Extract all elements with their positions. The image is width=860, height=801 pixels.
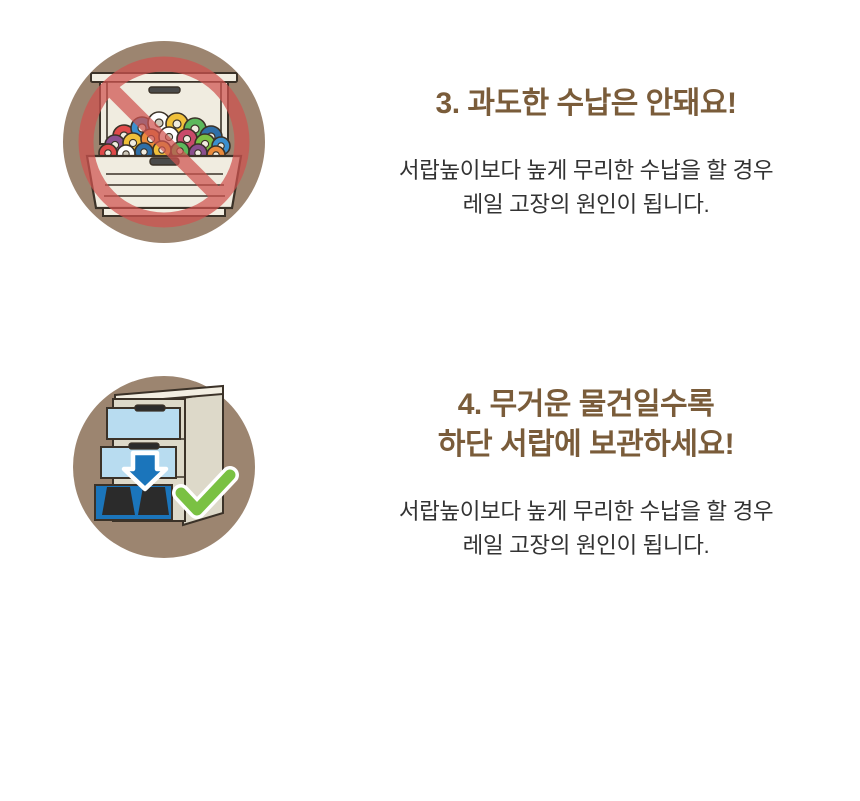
heavy-item-left [102, 487, 135, 515]
heavy-item-right [138, 487, 169, 515]
instruction-section-3: 3. 과도한 수납은 안돼요! 서랍높이보다 높게 무리한 수납을 할 경우 레… [0, 40, 860, 300]
section-4-body-text: 서랍높이보다 높게 무리한 수납을 할 경우 레일 고장의 원인이 됩니다. [330, 465, 842, 563]
heavy-items-bottom-drawer-approved-icon [73, 365, 255, 569]
section-4-text-column: 4. 무거운 물건일수록 하단 서랍에 보관하세요! 서랍높이보다 높게 무리한… [330, 350, 842, 563]
page-title-3: 3. 과도한 수납은 안돼요! [330, 40, 842, 124]
drawer-top [107, 405, 180, 439]
section-3-text-column: 3. 과도한 수납은 안돼요! 서랍높이보다 높게 무리한 수납을 할 경우 레… [330, 40, 842, 222]
section-3-body-text: 서랍높이보다 높게 무리한 수납을 할 경우 레일 고장의 원인이 됩니다. [330, 124, 842, 222]
instruction-section-4: 4. 무거운 물건일수록 하단 서랍에 보관하세요! 서랍높이보다 높게 무리한… [0, 350, 860, 610]
overfilled-drawer-prohibited-icon [62, 40, 266, 244]
page-title-4: 4. 무거운 물건일수록 하단 서랍에 보관하세요! [330, 350, 842, 465]
drawer-bottom-heavy [95, 485, 172, 520]
infographic-page: 3. 과도한 수납은 안돼요! 서랍높이보다 높게 무리한 수납을 할 경우 레… [0, 0, 860, 801]
